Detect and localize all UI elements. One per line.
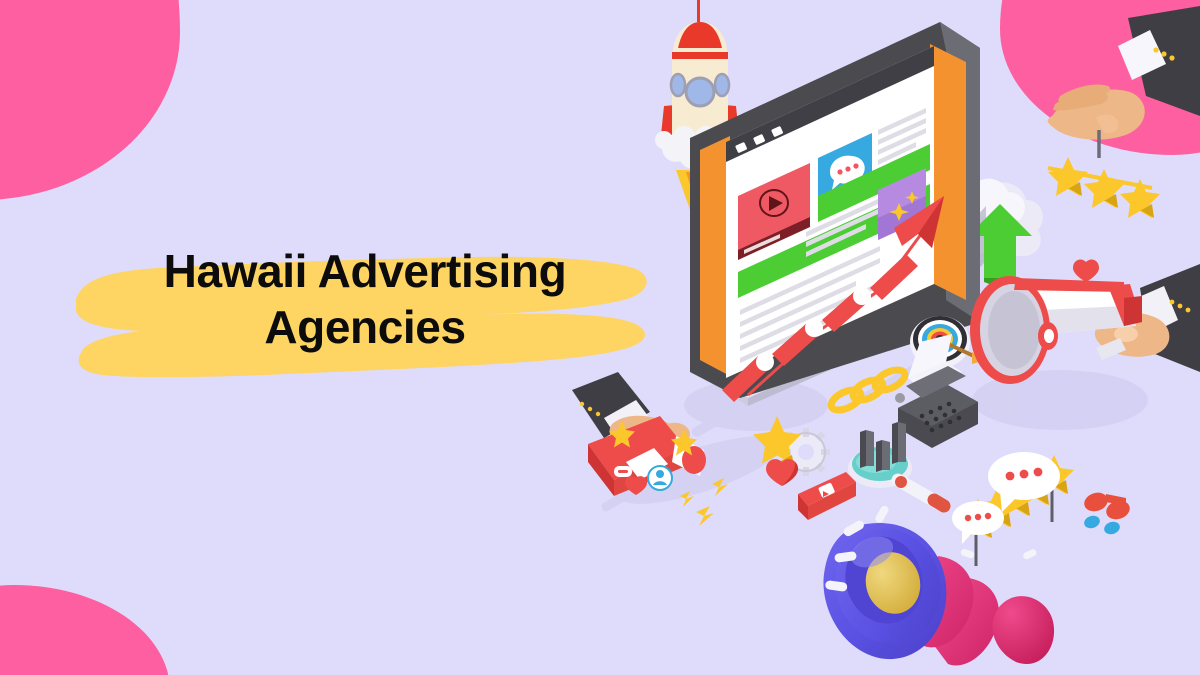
bottom-right-pink-blob	[993, 596, 1054, 664]
megaphone-center	[1044, 329, 1054, 343]
page-title-line-1: Hawaii Advertising	[164, 245, 567, 297]
megaphone-3d	[821, 515, 999, 666]
headline-block: Hawaii Advertising Agencies	[70, 243, 660, 355]
red-play-card	[798, 472, 856, 520]
music-notes	[1082, 490, 1132, 536]
rocket-nose-cap	[678, 22, 722, 48]
left-megaphone-notification-badge	[614, 466, 632, 477]
monitor-screen-orange-right	[930, 44, 966, 300]
rocket-window-left	[671, 74, 685, 96]
speech-bubble-small	[952, 501, 1004, 544]
hand-placing-star	[1048, 6, 1200, 218]
left-megaphone-avatar	[648, 466, 672, 490]
megaphone-band-red-dark	[1124, 296, 1142, 326]
page-title: Hawaii Advertising Agencies	[70, 243, 660, 355]
banner-canvas: Hawaii Advertising Agencies	[0, 0, 1200, 675]
chain-links	[828, 366, 908, 414]
hand-holding-megaphone	[970, 264, 1200, 384]
heart-small	[1073, 260, 1099, 282]
magnifier-handle-red-tip	[934, 500, 944, 506]
rocket-window-right	[715, 74, 729, 96]
page-title-line-2: Agencies	[264, 301, 465, 353]
rating-stars-top	[1048, 157, 1160, 218]
magnifier-handle-red-joint	[895, 476, 907, 488]
megaphone-top-red	[1014, 278, 1124, 292]
monitor-screen-orange-left	[700, 136, 730, 376]
typewriter-knob	[895, 393, 905, 403]
megaphone-mouth-inner2	[988, 291, 1040, 369]
rocket-stripe	[672, 52, 728, 59]
